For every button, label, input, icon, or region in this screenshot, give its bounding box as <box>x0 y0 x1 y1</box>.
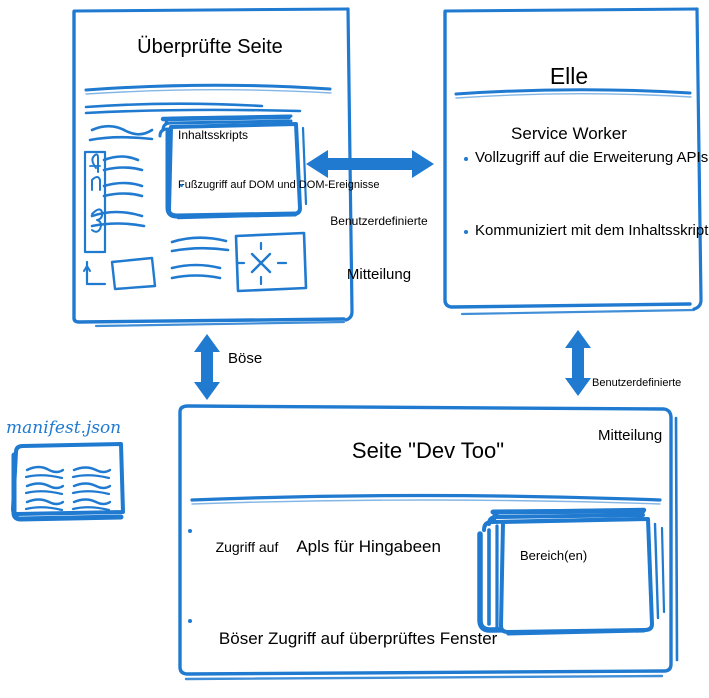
list-item: Fußzugriff auf DOM und DOM-Ereignisse <box>178 178 290 192</box>
devtools-bullet-1-lead: Zugriff auf <box>216 539 279 555</box>
inspected-page-title: Überprüfte Seite <box>72 36 348 59</box>
diagram-canvas: Überprüfte Seite Inhaltsskripts Fußzugri… <box>0 0 709 698</box>
right-arrow-label-line2: Mitteilung <box>592 426 708 445</box>
devtools-bullet-1-emphasis: Apls für Hingabeen <box>278 537 441 556</box>
extension-title-line1: Elle <box>443 64 695 88</box>
document-lines-icon <box>13 444 123 519</box>
double-arrow-vertical-icon-left <box>194 334 220 400</box>
manifest-json-label: manifest.json <box>6 418 121 438</box>
double-arrow-horizontal-icon <box>306 150 434 178</box>
panes-label: Bereich(en) <box>520 548 587 563</box>
left-arrow-label: Böse <box>228 350 262 367</box>
right-arrow-label: Benutzerdefinierte Mitteilung <box>592 340 708 481</box>
devtools-bullet-2: Böser Zugriff auf überprüftes Fenster <box>186 609 709 669</box>
content-script-card-heading: Inhaltsskripts <box>178 128 248 142</box>
right-arrow-label-line1: Benutzerdefinierte <box>592 376 708 390</box>
double-arrow-vertical-icon-right <box>565 330 591 396</box>
center-arrow-label: Benutzerdefinierte Mitteilung <box>315 178 443 320</box>
center-arrow-label-line1: Benutzerdefinierte <box>315 214 443 229</box>
list-item: Kommuniziert mit dem Inhaltsskript und S… <box>462 221 692 240</box>
devtools-bullet-1: Zugriff aufApls für Hingabeen <box>186 521 709 573</box>
list-item: Vollzugriff auf die Erweiterung APIs <box>462 148 692 167</box>
extension-bullet-list: Vollzugriff auf die Erweiterung APIs Kom… <box>462 110 692 294</box>
content-script-bullet-list: Fußzugriff auf DOM und DOM-Ereignisse <box>178 150 290 220</box>
center-arrow-label-line2: Mitteilung <box>315 265 443 284</box>
devtools-bullet-2-lead: Böser Zugriff auf überprüftes Fenster <box>219 629 497 648</box>
